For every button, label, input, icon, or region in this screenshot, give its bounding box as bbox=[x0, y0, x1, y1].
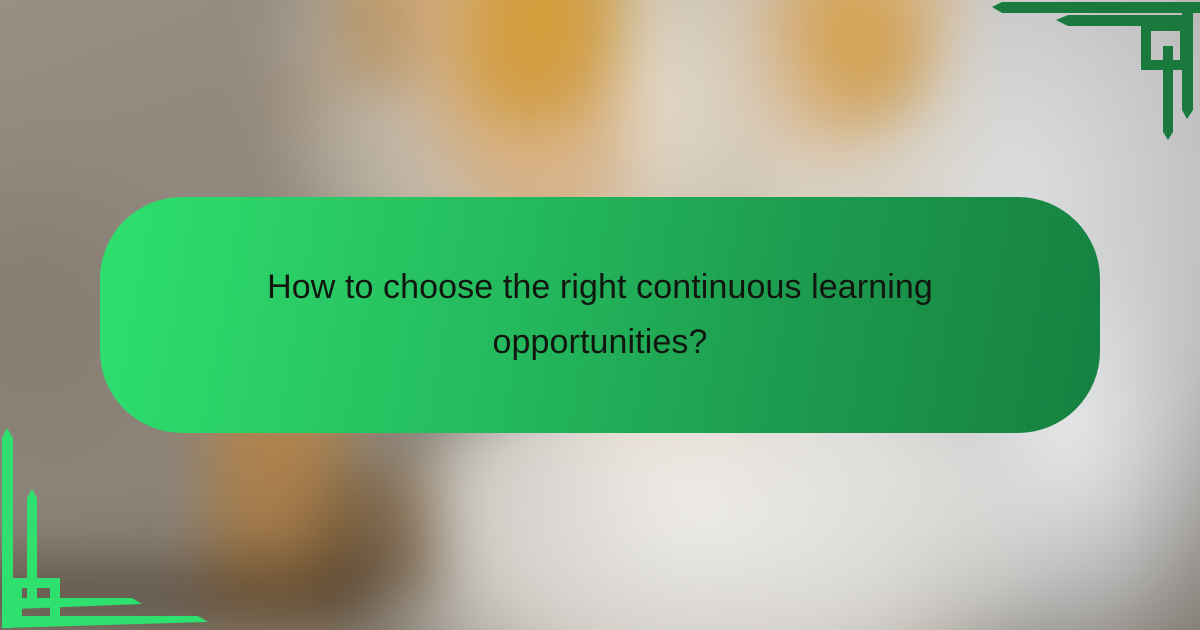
background-wooden-panel-top bbox=[340, 0, 414, 87]
background-floor-shadow bbox=[0, 548, 367, 622]
headline-card: How to choose the right continuous learn… bbox=[100, 197, 1100, 433]
social-card-canvas: How to choose the right continuous learn… bbox=[0, 0, 1200, 630]
headline-title: How to choose the right continuous learn… bbox=[200, 260, 1000, 370]
background-furniture-knob bbox=[280, 83, 308, 119]
